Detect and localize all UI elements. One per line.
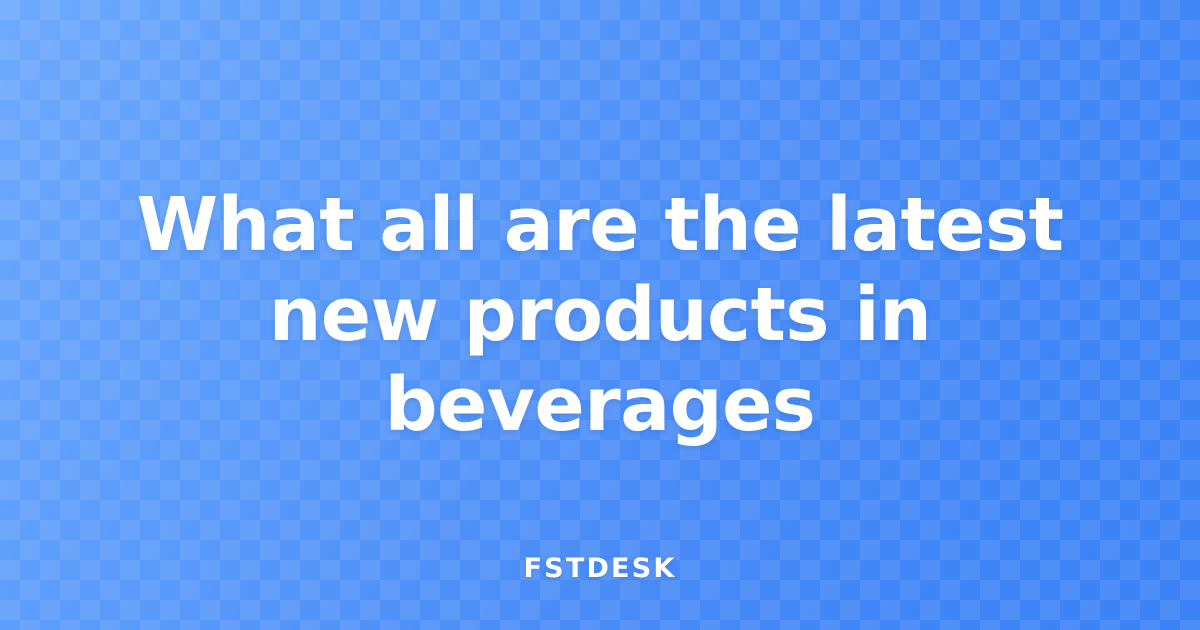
social-card: What all are the latest new products in …: [0, 0, 1200, 630]
brand-footer: FSTDESK: [0, 553, 1200, 584]
page-title: What all are the latest new products in …: [120, 180, 1080, 451]
brand-wordmark: FSTDESK: [524, 553, 677, 584]
card-content: What all are the latest new products in …: [0, 0, 1200, 630]
